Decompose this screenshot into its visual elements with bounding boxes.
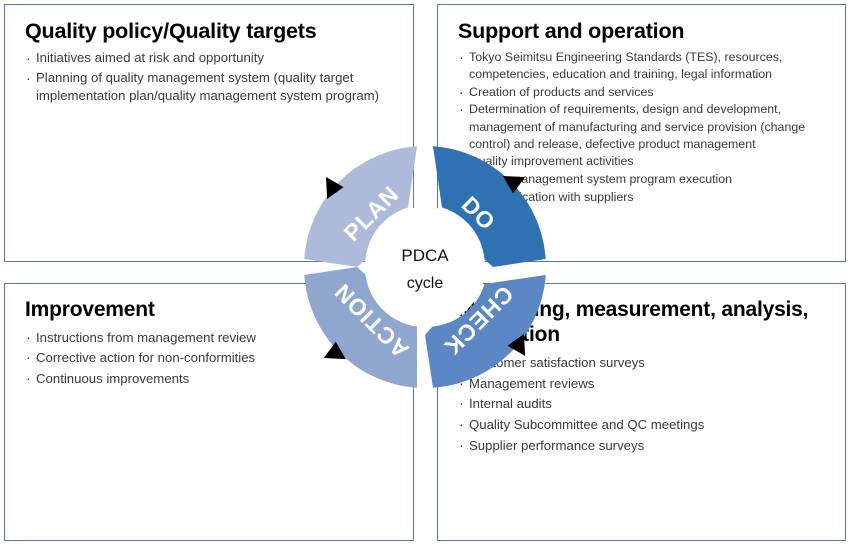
list-item: Internal audits bbox=[458, 394, 829, 413]
pdca-cycle-diagram: PDCA cycle PLAN DO CHECK ACTION bbox=[304, 146, 546, 388]
list-item: Supplier performance surveys bbox=[458, 436, 829, 455]
list-item: Tokyo Seimitsu Engineering Standards (TE… bbox=[458, 49, 829, 83]
list-item: Quality Subcommittee and QC meetings bbox=[458, 415, 829, 434]
panel-quality-policy-title: Quality policy/Quality targets bbox=[25, 19, 397, 44]
hub-label-secondary: cycle bbox=[407, 275, 444, 292]
list-item: Planning of quality management system (q… bbox=[25, 69, 397, 107]
panel-quality-policy-list: Initiatives aimed at risk and opportunit… bbox=[25, 49, 397, 106]
wheel-hub bbox=[365, 207, 485, 327]
panel-quality-policy-content: Quality policy/Quality targets Initiativ… bbox=[5, 5, 413, 106]
list-item: Initiatives aimed at risk and opportunit… bbox=[25, 49, 397, 68]
panel-support-operation-title: Support and operation bbox=[458, 19, 829, 44]
hub-label-primary: PDCA bbox=[401, 246, 449, 265]
list-item: Creation of products and services bbox=[458, 84, 829, 101]
